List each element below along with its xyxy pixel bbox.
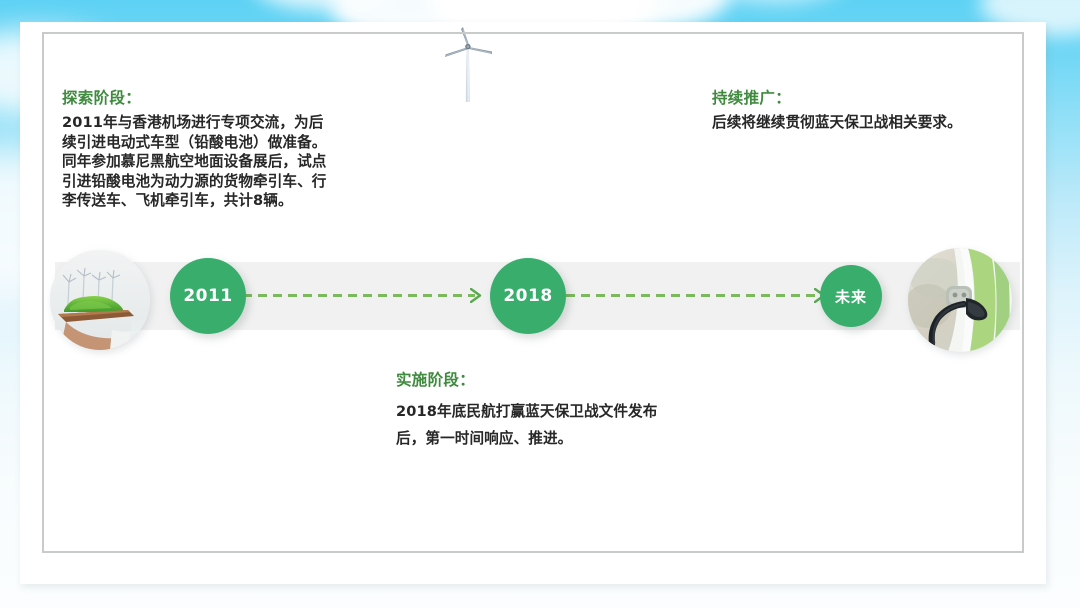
- timeline-node-2018[interactable]: 2018: [490, 258, 566, 334]
- stage-block-implement: 实施阶段： 2018年底民航打赢蓝天保卫战文件发布 后，第一时间响应、推进。: [396, 368, 726, 452]
- text-line: 同年参加慕尼黑航空地面设备展后，试点: [62, 152, 362, 172]
- timeline-dashed-connector: [243, 294, 475, 297]
- photo-ev-charging: [908, 248, 1012, 352]
- text-line: 引进铅酸电池为动力源的货物牵引车、行: [62, 172, 362, 192]
- timeline-node-2011[interactable]: 2011: [170, 258, 246, 334]
- stage-body-promote: 后续将继续贯彻蓝天保卫战相关要求。: [712, 113, 1022, 133]
- stage-heading-promote: 持续推广：: [712, 86, 1022, 108]
- stage-heading-implement: 实施阶段：: [396, 368, 726, 390]
- stage-heading-explore: 探索阶段：: [62, 86, 362, 108]
- text-line: 李传送车、飞机牵引车，共计8辆。: [62, 191, 362, 211]
- arrow-right-icon: [470, 288, 482, 303]
- text-line: 后，第一时间响应、推进。: [396, 425, 726, 452]
- text-line: 后续将继续贯彻蓝天保卫战相关要求。: [712, 113, 1022, 133]
- text-line: 2018年底民航打赢蓝天保卫战文件发布: [396, 398, 726, 425]
- stage-body-implement: 2018年底民航打赢蓝天保卫战文件发布 后，第一时间响应、推进。: [396, 398, 726, 452]
- stage-block-explore: 探索阶段： 2011年与香港机场进行专项交流，为后 续引进电动式车型（铅酸电池）…: [62, 86, 362, 211]
- text-line: 续引进电动式车型（铅酸电池）做准备。: [62, 133, 362, 153]
- stage-body-explore: 2011年与香港机场进行专项交流，为后 续引进电动式车型（铅酸电池）做准备。 同…: [62, 113, 362, 211]
- text-line: 2011年与香港机场进行专项交流，为后: [62, 113, 362, 133]
- cloud-decoration: [250, 0, 390, 10]
- cloud-decoration: [700, 0, 850, 4]
- slide-canvas: 探索阶段： 2011年与香港机场进行专项交流，为后 续引进电动式车型（铅酸电池）…: [0, 0, 1080, 608]
- photo-green-energy: [50, 250, 150, 350]
- timeline-dashed-connector: [566, 294, 820, 297]
- timeline-node-future[interactable]: 未来: [820, 265, 882, 327]
- stage-block-promote: 持续推广： 后续将继续贯彻蓝天保卫战相关要求。: [712, 86, 1022, 133]
